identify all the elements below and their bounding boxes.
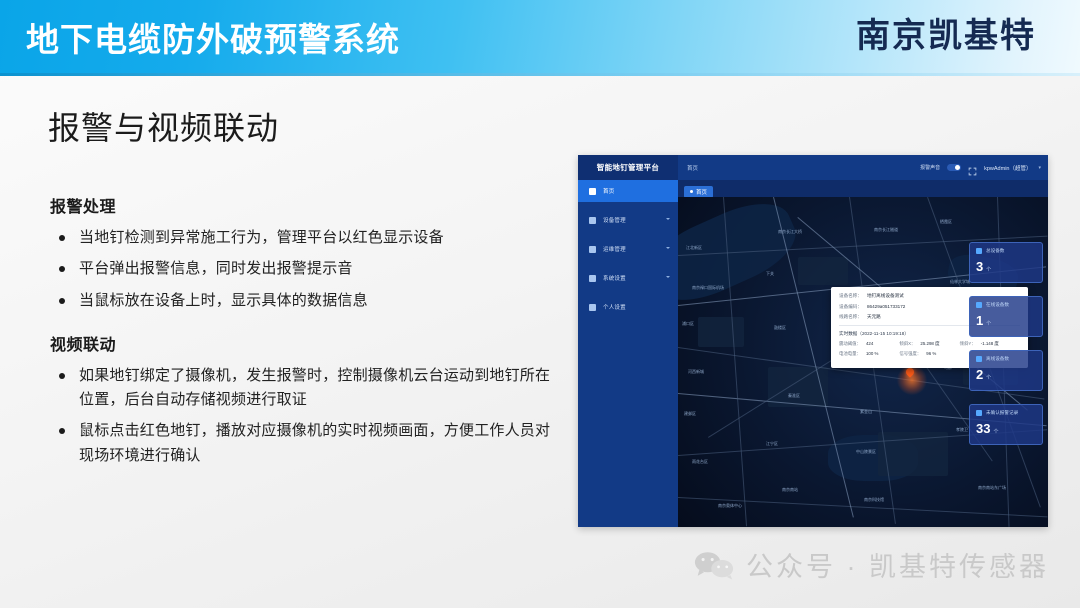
device-total-icon	[976, 248, 982, 254]
map-label: 南京长江大桥	[778, 229, 802, 235]
page-header-banner: 地下电缆防外破预警系统 南京凯基特	[0, 0, 1080, 73]
sidebar-item-label: 个人设置	[603, 303, 626, 311]
map-canvas[interactable]: 江北新区 南京禄口国际机场 浦口区 河西新城 建邺区 雨花台区 南京长江大桥 下…	[678, 197, 1048, 527]
map-label: 江北新区	[686, 245, 702, 251]
bullet-list-alarm: 当地钉检测到异常施工行为，管理平台以红色显示设备 平台弹出报警信息，同时发出报警…	[50, 226, 560, 313]
stat-card-offline-devices[interactable]: 离线设备数 2个	[969, 350, 1043, 391]
app-topbar: 智能地钉管理平台 首页 报警声音 kpwAdmin（超管） ▾	[578, 155, 1048, 180]
tab-label: 首页	[696, 188, 707, 196]
chevron-down-icon	[666, 218, 670, 220]
map-label: 栖霞区	[940, 219, 952, 225]
map-label: 建邺区	[684, 411, 696, 417]
map-label: 紫金山	[860, 409, 872, 415]
sidebar-spacer	[578, 231, 678, 238]
header-underline	[0, 73, 1080, 76]
map-block	[798, 257, 848, 285]
map-label: 下关	[766, 271, 774, 277]
map-label: 中山陵景区	[856, 449, 876, 455]
map-label: 南京南站东广场	[978, 485, 1006, 491]
sidebar-spacer	[578, 260, 678, 267]
popup-key: 线路名称：	[839, 314, 862, 320]
footer: 公众号 · 凯基特传感器	[694, 545, 1049, 584]
stat-card-online-devices[interactable]: 在线设备数 1个	[969, 296, 1043, 337]
popup-value: 86429a051733172	[867, 304, 905, 310]
sidebar-item-home[interactable]: 首页	[578, 180, 678, 202]
breadcrumb: 首页	[687, 164, 698, 172]
alarm-sound-toggle[interactable]	[947, 164, 961, 171]
tab-active-dot-icon	[690, 190, 693, 193]
map-label: 雨花台区	[692, 459, 708, 465]
wechat-icon	[694, 550, 734, 580]
popup-metric: 倾斜X： 25.298 度	[899, 341, 959, 347]
stat-label: 总设备数	[986, 248, 1004, 254]
stat-unit: 个	[986, 267, 991, 273]
sidebar-item-profile[interactable]: 个人设置	[578, 296, 678, 318]
popup-key: 设备名称：	[839, 293, 862, 299]
topbar-right-controls: 报警声音 kpwAdmin（超管） ▾	[920, 155, 1041, 180]
footer-text: 公众号 · 凯基特传感器	[746, 545, 1049, 584]
map-label: 秦淮区	[788, 393, 800, 399]
stat-value-row: 3个	[976, 258, 1036, 276]
alarm-sound-label: 报警声音	[920, 164, 940, 171]
map-label: 南京科技馆	[864, 497, 884, 503]
sidebar-item-device[interactable]: 设备管理	[578, 209, 678, 231]
offline-icon	[976, 356, 982, 362]
chevron-down-icon	[666, 247, 670, 249]
chevron-down-icon	[666, 276, 670, 278]
stat-label: 在线设备数	[986, 302, 1009, 308]
list-item: 当鼠标放在设备上时，显示具体的数据信息	[50, 289, 560, 313]
app-screenshot-panel: 智能地钉管理平台 首页 报警声音 kpwAdmin（超管） ▾ 首页 首页	[578, 155, 1048, 527]
popup-key: 设备编码：	[839, 304, 862, 310]
sidebar-item-label: 设备管理	[603, 216, 626, 224]
sidebar-item-system[interactable]: 系统设置	[578, 267, 678, 289]
sidebar-item-ops[interactable]: 运维管理	[578, 238, 678, 260]
stat-card-header: 在线设备数	[976, 302, 1036, 308]
stat-label: 离线设备数	[986, 356, 1009, 362]
popup-key: 倾斜X：	[899, 341, 915, 347]
map-block	[698, 317, 744, 347]
stat-value: 33	[976, 421, 990, 436]
map-label: 南京奥体中心	[718, 503, 742, 509]
stat-value-row: 2个	[976, 366, 1036, 384]
app-sidebar: 首页 设备管理 运维管理 系统设置 个人设置	[578, 180, 678, 527]
stat-value-row: 1个	[976, 312, 1036, 330]
stat-card-unconfirmed-alarms[interactable]: 未确认报警记录 33个	[969, 404, 1043, 445]
stat-value: 1	[976, 313, 983, 328]
map-label: 河西新城	[688, 369, 704, 375]
popup-metric: 信号强度： 96 %	[899, 351, 959, 357]
map-label: 浦口区	[682, 321, 694, 327]
home-icon	[589, 188, 596, 195]
map-label: 江宁区	[766, 441, 778, 447]
bullet-list-video: 如果地钉绑定了摄像机，发生报警时，控制摄像机云台运动到地钉所在位置，后台自动存储…	[50, 364, 560, 468]
popup-value: 天元路	[867, 314, 881, 320]
map-label: 鼓楼区	[774, 325, 786, 331]
content-column: 报警处理 当地钉检测到异常施工行为，管理平台以红色显示设备 平台弹出报警信息，同…	[50, 193, 560, 475]
tab-home[interactable]: 首页	[684, 186, 713, 198]
map-label: 南京长江隧道	[874, 227, 898, 233]
section-heading-alarm: 报警处理	[50, 193, 560, 217]
fullscreen-icon[interactable]	[968, 163, 977, 172]
sidebar-spacer	[578, 202, 678, 209]
company-brand: 南京凯基特	[856, 8, 1036, 57]
list-item: 平台弹出报警信息，同时发出报警提示音	[50, 257, 560, 281]
sidebar-spacer	[578, 289, 678, 296]
slide-title: 报警与视频联动	[48, 103, 279, 149]
list-item: 鼠标点击红色地钉，播放对应摄像机的实时视频画面，方便工作人员对现场环境进行确认	[50, 419, 560, 468]
sidebar-item-label: 首页	[603, 187, 614, 195]
map-label: 仙林大学城	[950, 279, 970, 285]
map-label: 孝陵卫	[956, 427, 968, 433]
list-item: 如果地钉绑定了摄像机，发生报警时，控制摄像机云台运动到地钉所在位置，后台自动存储…	[50, 364, 560, 413]
popup-value: 96 %	[926, 351, 936, 357]
user-menu[interactable]: kpwAdmin（超管）	[984, 164, 1031, 172]
stat-label: 未确认报警记录	[986, 410, 1018, 416]
popup-value: 25.298 度	[920, 341, 939, 347]
bell-icon	[976, 410, 982, 416]
sidebar-item-label: 系统设置	[603, 274, 626, 282]
gear-icon	[589, 275, 596, 282]
popup-value: 地钉离线设备测试	[867, 293, 904, 299]
map-label: 南京禄口国际机场	[692, 285, 724, 291]
popup-key: 电池电量：	[839, 351, 861, 357]
page-title: 地下电缆防外破预警系统	[26, 13, 400, 61]
ops-icon	[589, 246, 596, 253]
list-item: 当地钉检测到异常施工行为，管理平台以红色显示设备	[50, 226, 560, 250]
sidebar-item-label: 运维管理	[603, 245, 626, 253]
map-label: 南京南站	[782, 487, 798, 493]
popup-metric: 电池电量： 100 %	[839, 351, 899, 357]
online-icon	[976, 302, 982, 308]
chevron-down-icon[interactable]: ▾	[1038, 165, 1041, 171]
popup-key: 震动阈值：	[839, 341, 861, 347]
app-tabbar: 首页	[678, 180, 1048, 197]
popup-key: 信号强度：	[899, 351, 921, 357]
stat-value: 3	[976, 259, 983, 274]
stat-card-total-devices[interactable]: 总设备数 3个	[969, 242, 1043, 283]
section-heading-video: 视频联动	[50, 331, 560, 355]
app-logo: 智能地钉管理平台	[578, 155, 678, 180]
stat-value: 2	[976, 367, 983, 382]
stat-unit: 个	[986, 321, 991, 327]
stat-cards: 总设备数 3个 在线设备数 1个 离线设备数	[969, 242, 1043, 458]
popup-metric: 震动阈值： 424	[839, 341, 899, 347]
user-icon	[589, 304, 596, 311]
stat-value-row: 33个	[976, 420, 1036, 438]
device-icon	[589, 217, 596, 224]
stat-unit: 个	[993, 429, 998, 435]
stat-card-header: 未确认报警记录	[976, 410, 1036, 416]
stat-unit: 个	[986, 375, 991, 381]
popup-value: 100 %	[866, 351, 878, 357]
stat-card-header: 离线设备数	[976, 356, 1036, 362]
stat-card-header: 总设备数	[976, 248, 1036, 254]
popup-value: 424	[866, 341, 873, 347]
